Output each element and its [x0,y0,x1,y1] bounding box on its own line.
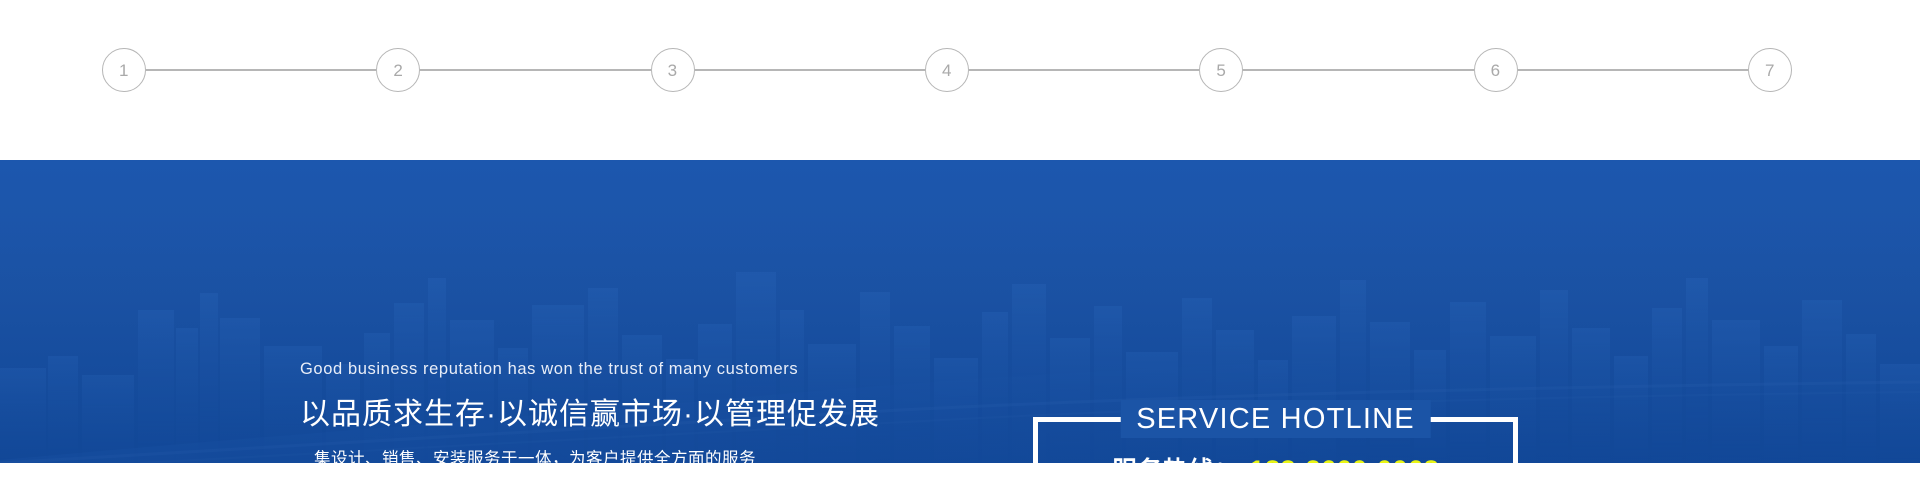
page-root: 1 2 3 4 5 6 7 [0,0,1920,500]
step-node-5[interactable]: 5 [1199,48,1243,92]
step-node-6[interactable]: 6 [1474,48,1518,92]
hotline-label: 服务热线： [1112,453,1240,463]
slogan-english-line: Good business reputation has won the tru… [300,360,770,379]
step-node-1[interactable]: 1 [102,48,146,92]
hotline-title: SERVICE HOTLINE [1120,400,1431,438]
blue-promo-banner: Good business reputation has won the tru… [0,160,1920,463]
step-connector-5-6 [1243,69,1473,71]
step-node-2[interactable]: 2 [376,48,420,92]
hotline-row-primary: 服务热线： 183-2660-0068 [1038,452,1513,463]
step-number-label: 2 [393,62,403,79]
step-number-label: 7 [1765,62,1775,79]
step-number-label: 3 [668,62,678,79]
city-skyline-illustration [0,160,1920,463]
step-number-label: 6 [1491,62,1501,79]
slogan-chinese-headline: 以品质求生存·以诚信赢市场·以管理促发展 [300,389,770,433]
step-connector-2-3 [420,69,650,71]
step-progress-bar: 1 2 3 4 5 6 7 [0,0,1920,160]
step-node-4[interactable]: 4 [925,48,969,92]
service-hotline-box: SERVICE HOTLINE 服务热线： 183-2660-0068 0551… [1033,417,1518,463]
step-number-label: 1 [119,62,129,79]
step-number-label: 5 [1216,62,1226,79]
hotline-phone-primary[interactable]: 183-2660-0068 [1249,452,1439,463]
stepper-track: 1 2 3 4 5 6 7 [102,48,1792,92]
step-number-label: 4 [942,62,952,79]
step-node-7[interactable]: 7 [1748,48,1792,92]
slogan-chinese-subline: 集设计、销售、安装服务于一体，为客户提供全方面的服务 [300,445,770,463]
step-connector-4-5 [969,69,1199,71]
step-connector-6-7 [1518,69,1748,71]
hotline-rows: 服务热线： 183-2660-0068 0551-63749777 [1038,452,1513,463]
step-connector-3-4 [695,69,925,71]
step-connector-1-2 [146,69,376,71]
slogan-block: Good business reputation has won the tru… [300,360,770,463]
step-node-3[interactable]: 3 [651,48,695,92]
